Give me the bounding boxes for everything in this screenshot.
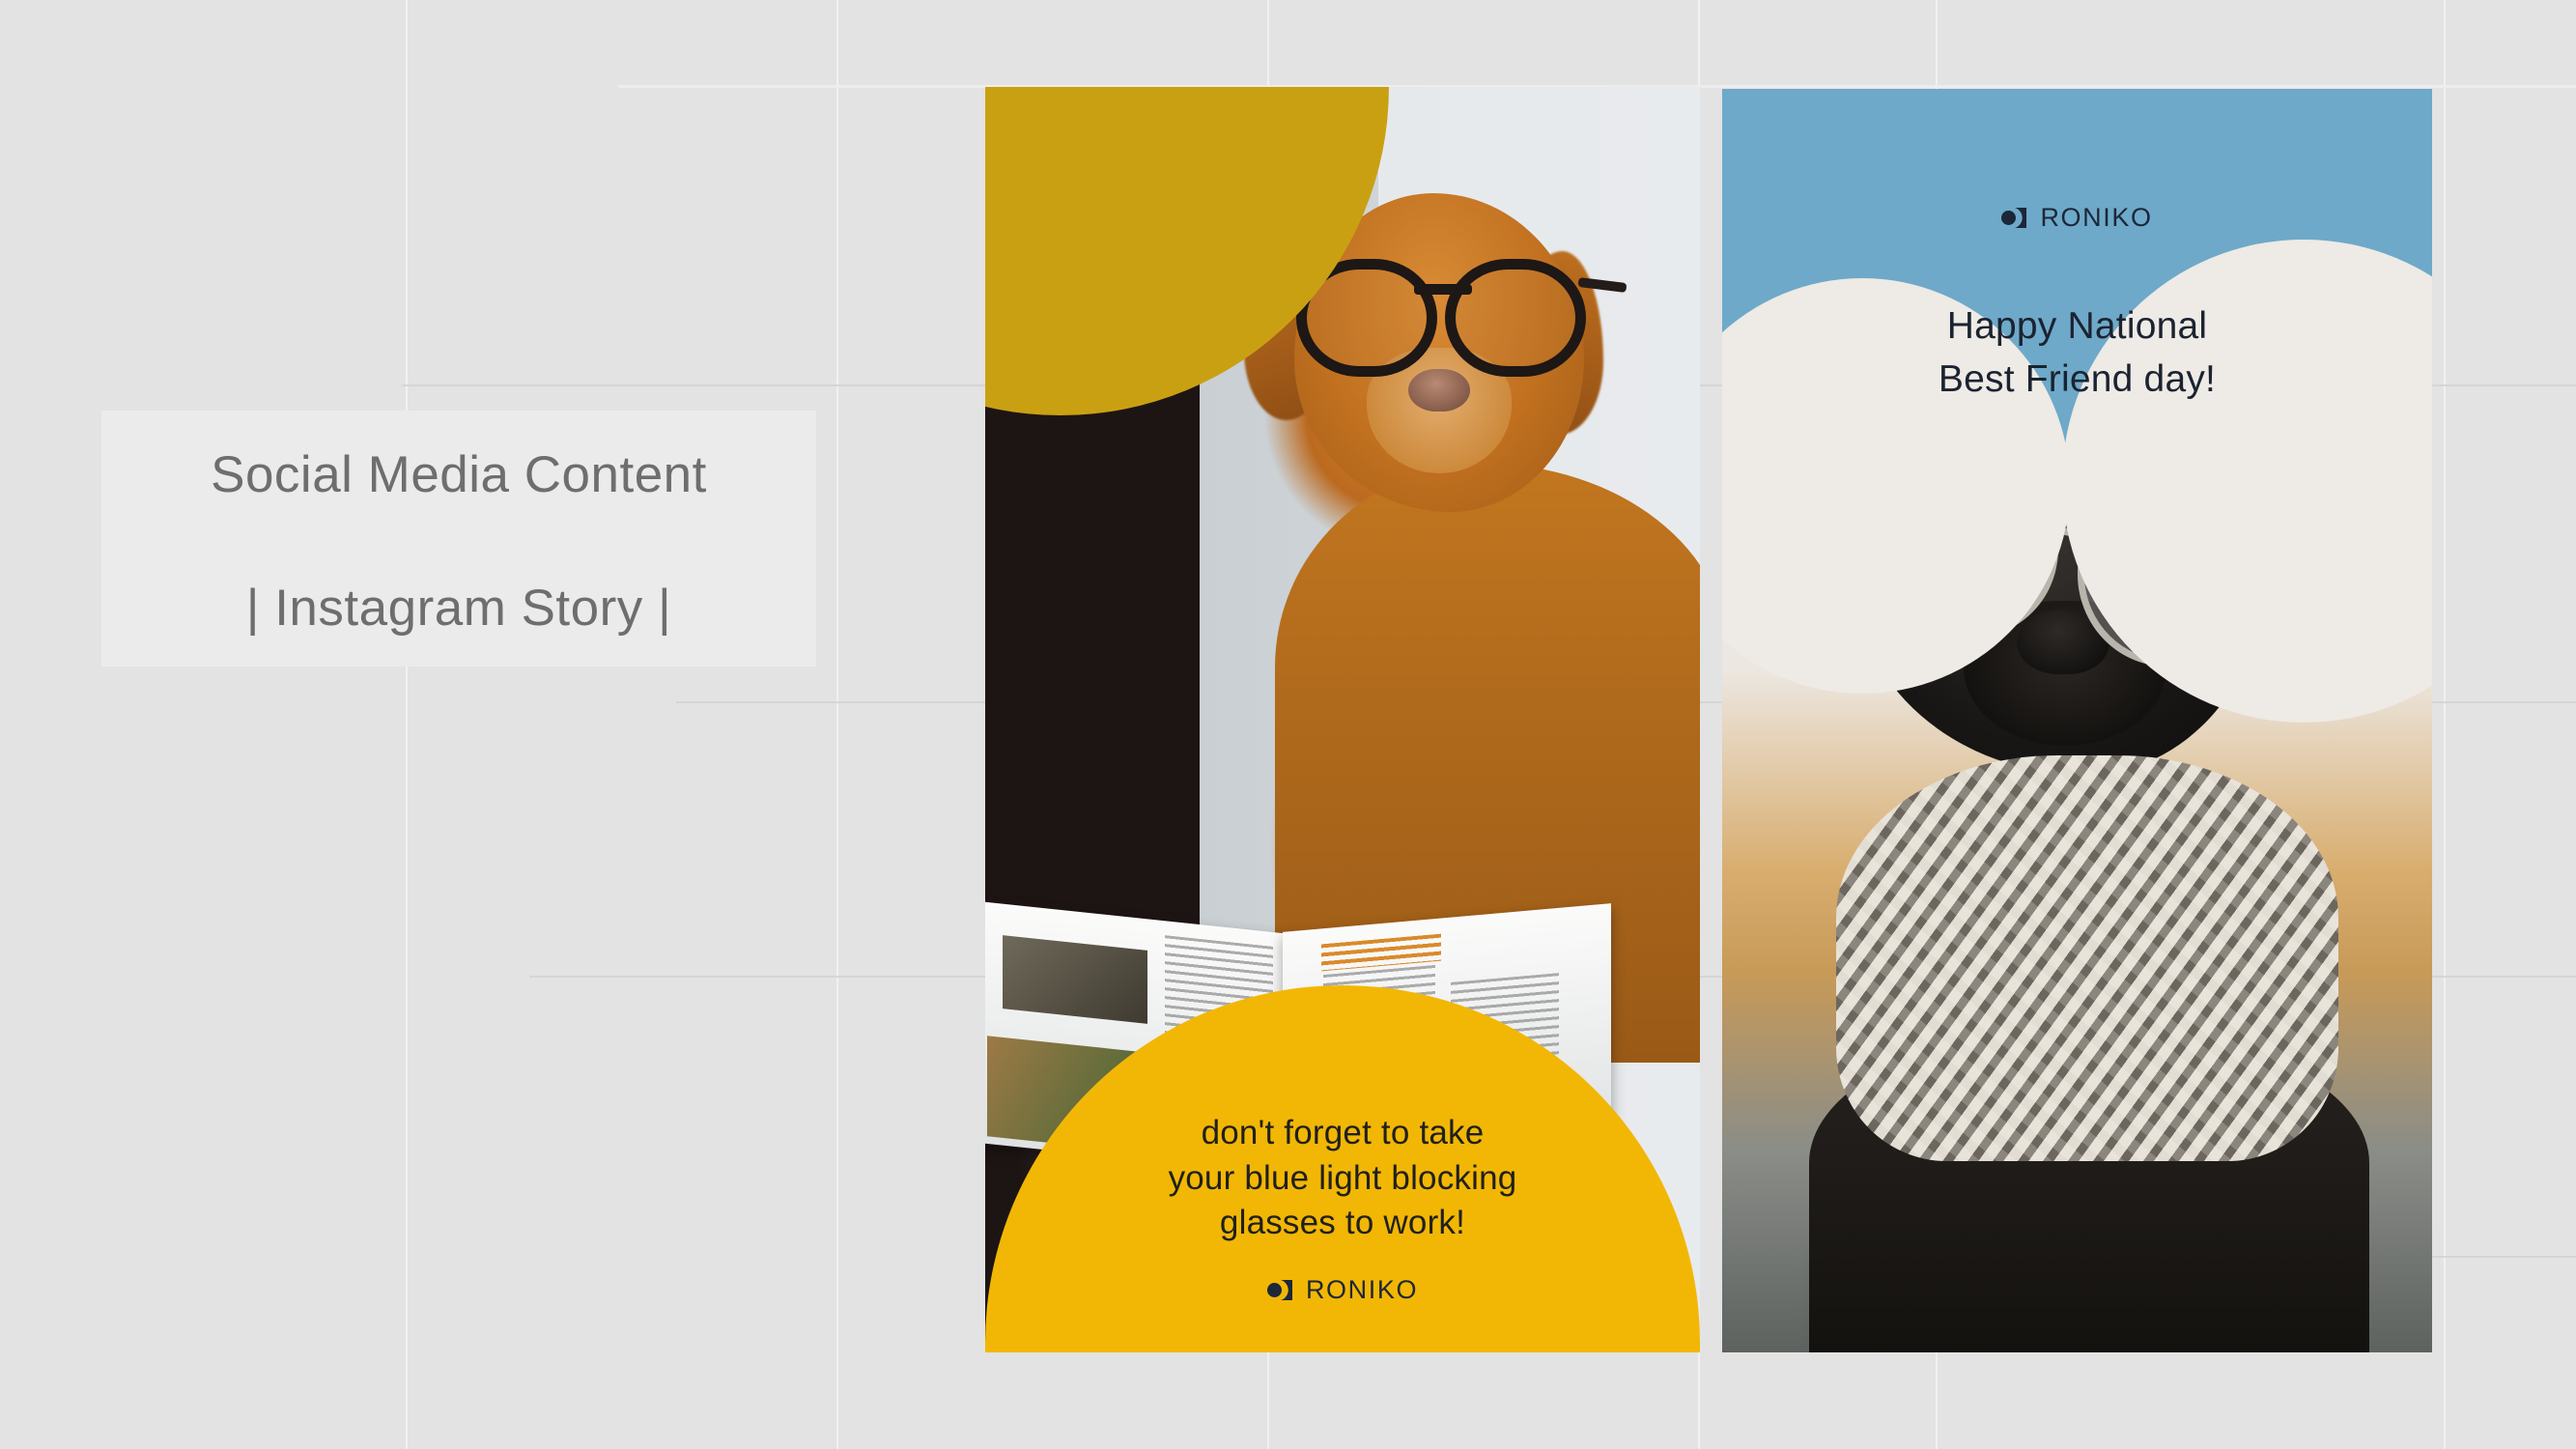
knitted-scarf	[1836, 755, 2338, 1161]
brand-wordmark: RONIKO	[1306, 1275, 1418, 1305]
story-caption-line-1: don't forget to take	[1024, 1111, 1661, 1156]
roniko-circle-wedge-icon	[2001, 205, 2030, 231]
brand-wordmark: RONIKO	[2040, 203, 2152, 233]
brand-logo-yellow-card: RONIKO	[985, 1275, 1700, 1305]
story-heading: Happy National Best Friend day!	[1722, 299, 2432, 407]
story-caption: don't forget to take your blue light blo…	[1024, 1111, 1661, 1246]
eyeglasses-icon	[1296, 259, 1586, 359]
eyeglasses-temple	[1578, 277, 1628, 293]
instagram-story-card-blue[interactable]: RONIKO Happy National Best Friend day!	[1722, 89, 2432, 1352]
eyeglasses-lens-right	[1445, 259, 1586, 377]
magazine-image	[1003, 935, 1147, 1024]
story-heading-line-1: Happy National	[1722, 299, 2432, 353]
page-title: Social Media Content | Instagram Story |	[101, 411, 816, 667]
story-heading-line-2: Best Friend day!	[1722, 353, 2432, 406]
instagram-story-card-yellow[interactable]: don't forget to take your blue light blo…	[985, 87, 1700, 1352]
roniko-circle-wedge-icon	[1267, 1277, 1296, 1303]
story-caption-line-3: glasses to work!	[1024, 1201, 1661, 1246]
page-title-line-1: Social Media Content	[101, 449, 816, 500]
grid-vline	[406, 0, 408, 1449]
brand-logo-blue-card: RONIKO	[1722, 203, 2432, 233]
story-caption-line-2: your blue light blocking	[1024, 1156, 1661, 1202]
eyeglasses-bridge	[1414, 284, 1472, 295]
grid-vline	[836, 0, 838, 1449]
page-title-line-2: | Instagram Story |	[101, 582, 816, 634]
grid-vline	[2444, 0, 2446, 1449]
retriever-nose	[1408, 369, 1470, 412]
